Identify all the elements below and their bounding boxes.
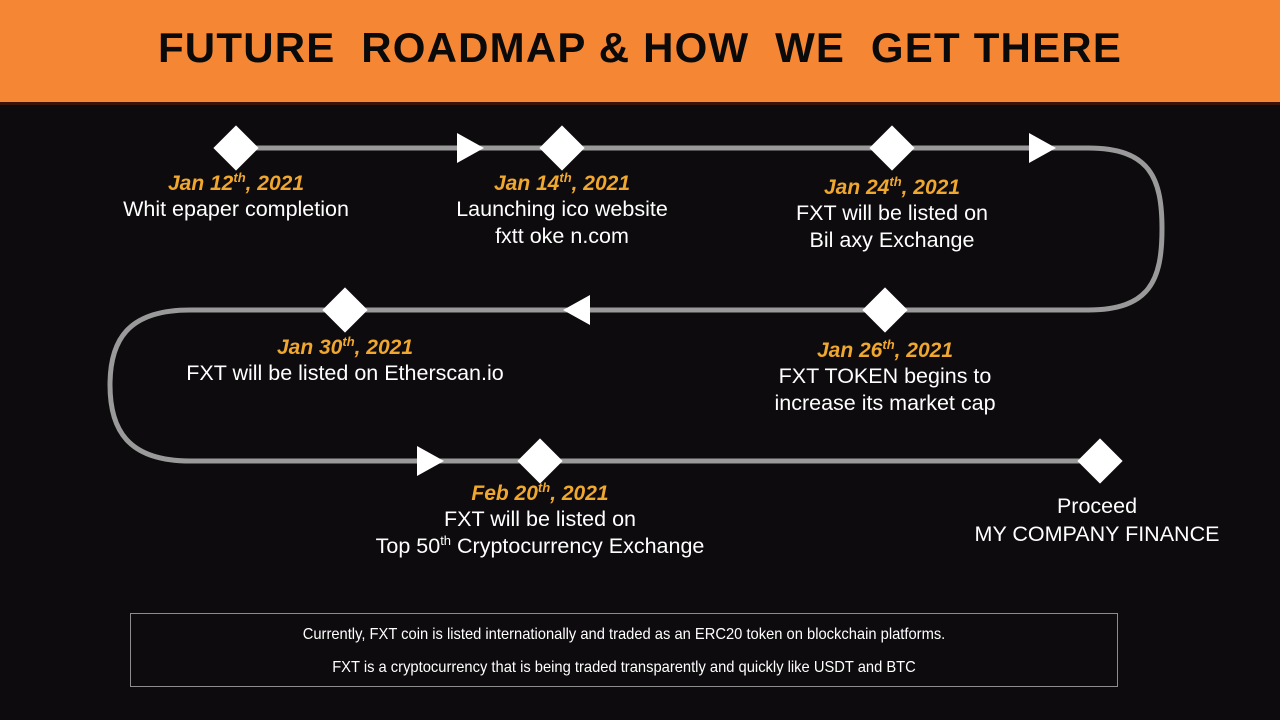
- footer-note-box: Currently, FXT coin is listed internatio…: [130, 613, 1118, 687]
- footer-note-line-1: Currently, FXT coin is listed internatio…: [170, 626, 1077, 644]
- milestone-7: Proceed MY COMPANY FINANCE: [897, 492, 1280, 548]
- milestone-marker-4: [322, 287, 367, 332]
- milestone-6-date: Feb 20th, 2021: [340, 482, 740, 506]
- milestone-7-line-1: Proceed: [897, 492, 1280, 520]
- milestone-6: Feb 20th, 2021 FXT will be listed on Top…: [340, 482, 740, 560]
- milestone-marker-7: [1077, 438, 1122, 483]
- milestone-3: Jan 24th, 2021 FXT will be listed on Bil…: [692, 176, 1092, 254]
- page-title: FUTURE ROADMAP & HOW WE GET THERE: [0, 24, 1280, 72]
- arrow-right-row1-b: [1029, 133, 1056, 163]
- milestone-4-date: Jan 30th, 2021: [145, 336, 545, 360]
- header-underline: [0, 102, 1280, 105]
- ordinal-suffix: th: [342, 334, 354, 349]
- milestone-4: Jan 30th, 2021 FXT will be listed on Eth…: [145, 336, 545, 387]
- ordinal-suffix: th: [233, 170, 245, 185]
- milestone-3-line-2: Bil axy Exchange: [692, 227, 1092, 254]
- milestone-marker-2: [539, 125, 584, 170]
- footer-note-line-2: FXT is a cryptocurrency that is being tr…: [170, 659, 1077, 677]
- milestone-5-line-2: increase its market cap: [685, 390, 1085, 417]
- milestone-4-line-1: FXT will be listed on Etherscan.io: [145, 360, 545, 387]
- milestone-3-line-1: FXT will be listed on: [692, 200, 1092, 227]
- arrow-right-row1-a: [457, 133, 484, 163]
- milestone-marker-1: [213, 125, 258, 170]
- milestone-marker-6: [517, 438, 562, 483]
- ordinal-suffix: th: [559, 170, 571, 185]
- milestone-3-date: Jan 24th, 2021: [692, 176, 1092, 200]
- ordinal-suffix: th: [538, 480, 550, 495]
- milestone-6-line-1: FXT will be listed on: [340, 506, 740, 533]
- milestone-7-line-2: MY COMPANY FINANCE: [897, 520, 1280, 548]
- ordinal-suffix: th: [882, 337, 894, 352]
- milestone-5-date: Jan 26th, 2021: [685, 339, 1085, 363]
- milestone-5-line-1: FXT TOKEN begins to: [685, 363, 1085, 390]
- ordinal-suffix: th: [440, 533, 451, 548]
- milestone-6-line-2: Top 50th Cryptocurrency Exchange: [340, 533, 740, 560]
- roadmap-slide: FUTURE ROADMAP & HOW WE GET THERE Jan 12…: [0, 0, 1280, 720]
- milestone-5: Jan 26th, 2021 FXT TOKEN begins to incre…: [685, 339, 1085, 417]
- ordinal-suffix: th: [889, 174, 901, 189]
- milestone-marker-5: [862, 287, 907, 332]
- arrow-right-row3: [417, 446, 444, 476]
- arrow-left-row2: [563, 295, 590, 325]
- milestone-marker-3: [869, 125, 914, 170]
